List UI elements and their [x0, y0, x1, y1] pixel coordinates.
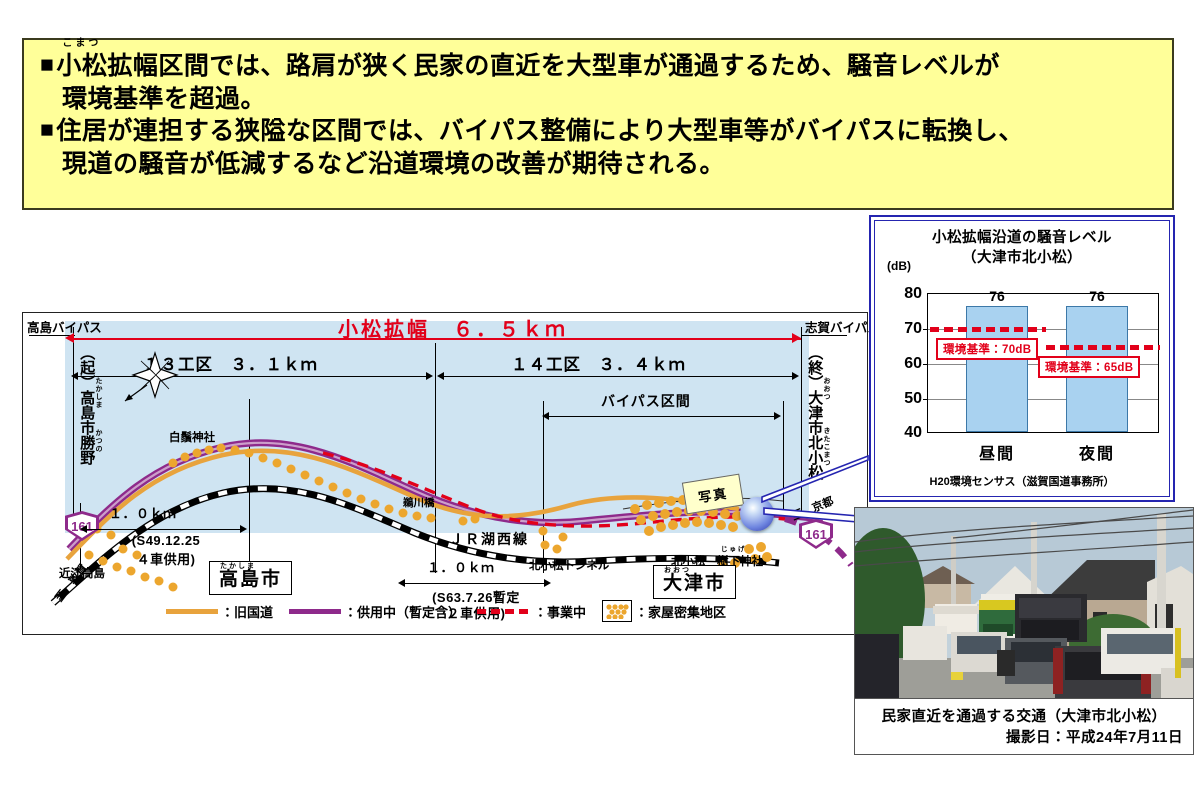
photo-caption: 民家直近を通過する交通（大津市北小松） 撮影日：平成24年7月11日 [855, 698, 1193, 754]
traffic-photo [855, 508, 1193, 698]
legend-item-in-service: ：供用中（暫定含） [289, 602, 461, 621]
photo-panel: 民家直近を通過する交通（大津市北小松） 撮影日：平成24年7月11日 [854, 507, 1194, 755]
threshold-line-nighttime [1046, 345, 1160, 350]
legend-label-dense-housing: ：家屋密集地区 [635, 602, 726, 621]
ytick-40: 40 [904, 424, 922, 442]
ytick-50: 50 [904, 390, 922, 408]
bullet-square-icon: ■ [40, 50, 54, 80]
dimension-right-measure [403, 583, 549, 584]
ruby-text-komatsu: こまつ [62, 37, 101, 50]
label-kitakomatsu-tunnel: 北小松トンネル [529, 557, 609, 573]
legend-swatch-hex-cluster-icon [602, 600, 632, 622]
legend-item-under-construction: ：事業中 [477, 602, 586, 621]
city-box-takashima: たかしま 高島市 [209, 561, 292, 595]
city-name-otsu: 大津市 [663, 573, 726, 594]
compass-rose-icon [125, 353, 177, 401]
dimension-left-note1: (S49.12.25 [91, 533, 241, 548]
ruby-juge: じゅげ [721, 543, 747, 553]
ytick-60: 60 [904, 355, 922, 373]
headline-bullet-2-line1: 住居が連担する狭隘な区間では、バイパス整備により大型車等がバイパスに転換し、 [56, 115, 1158, 148]
noise-level-chart-panel: 小松拡幅沿道の騒音レベル （大津市北小松） (dB) 80 70 60 50 4… [869, 215, 1175, 502]
ytick-70: 70 [904, 320, 922, 338]
chart-unit-label: (dB) [887, 259, 911, 273]
chart-title-main: 小松拡幅沿道の騒音レベル [875, 229, 1169, 249]
ruby-otsu-city: おおつ [664, 565, 691, 575]
legend-item-old-route: ：旧国道 [166, 602, 273, 621]
legend-item-dense-housing: ：家屋密集地区 [602, 600, 726, 622]
ruby-komatsu: こまつ 小松 [56, 50, 107, 83]
bar-value-nighttime: 76 [1067, 288, 1127, 304]
photo-caption-line2: 撮影日：平成24年7月11日 [865, 726, 1183, 747]
label-jr-kosei-line: ＪＲ湖西線 [449, 529, 529, 549]
headline-bullet-1-line2: 環境基準を超過。 [40, 83, 1158, 116]
legend-label-old-route: ：旧国道 [221, 602, 273, 621]
map-legend: ：旧国道 ：供用中（暫定含） ：事業中 ：家屋密集地区 [23, 600, 869, 622]
city-name-takashima: 高島市 [219, 569, 282, 590]
xtick-daytime: 昼間 [956, 440, 1038, 464]
dimension-right-arrow-end [544, 579, 551, 587]
headline-bullet-1: ■ こまつ 小松 拡幅区間では、路肩が狭く民家の直近を大型車が通過するため、騒音… [40, 50, 1158, 83]
dimension-right-length: １．０ｋｍ [427, 557, 495, 576]
bar-daytime: 76 [966, 306, 1028, 432]
xtick-nighttime: 夜間 [1056, 440, 1138, 464]
tickmark-60 [923, 364, 928, 365]
threshold-line-daytime [930, 327, 1046, 332]
city-box-otsu: おおつ 大津市 [653, 565, 736, 599]
traffic-photo-graphic [855, 508, 1193, 698]
photo-caption-line1: 民家直近を通過する交通（大津市北小松） [865, 705, 1183, 726]
chart-source-note: H20環境センサス（滋賀国道事務所） [875, 473, 1169, 489]
legend-swatch-orange-line [166, 609, 218, 614]
legend-label-under-construction: ：事業中 [534, 602, 586, 621]
headline-bullet-2: ■ 住居が連担する狭隘な区間では、バイパス整備により大型車等がバイパスに転換し、 [40, 115, 1158, 148]
gridline-40: 40 [928, 433, 1158, 434]
threshold-badge-daytime: 環境基準：70dB [936, 338, 1038, 360]
dimension-left-arrow-end [240, 525, 247, 533]
bullet-square-icon-2: ■ [40, 115, 54, 145]
legend-swatch-purple-line [289, 609, 341, 614]
headline-bullet-2-line2: 現道の騒音が低減するなど沿道環境の改善が期待される。 [40, 148, 1158, 181]
route-number-right: 161 [802, 522, 830, 546]
legend-swatch-red-dashed-line [477, 609, 531, 614]
chart-inner-frame: 小松拡幅沿道の騒音レベル （大津市北小松） (dB) 80 70 60 50 4… [874, 220, 1170, 497]
dimension-right-arrow-start [398, 579, 405, 587]
ruby-base-komatsu: 小松 [56, 52, 107, 80]
bar-value-daytime: 76 [967, 288, 1027, 304]
chart-title-sub: （大津市北小松） [875, 249, 1169, 269]
ytick-80: 80 [904, 285, 922, 303]
headline-box: ■ こまつ 小松 拡幅区間では、路肩が狭く民家の直近を大型車が通過するため、騒音… [22, 38, 1174, 210]
headline-bullet-1-line1: 拡幅区間では、路肩が狭く民家の直近を大型車が通過するため、騒音レベルが [107, 52, 1000, 80]
dimension-left-measure [85, 529, 245, 530]
chart-title: 小松拡幅沿道の騒音レベル （大津市北小松） [875, 229, 1169, 268]
label-ukawa-bridge: 鵜川橋 [403, 495, 435, 510]
ruby-takashima-city: たかしま [220, 561, 256, 571]
tickmark-70 [923, 329, 928, 330]
legend-label-in-service: ：供用中（暫定含） [344, 602, 461, 621]
photo-location-marker[interactable] [740, 497, 774, 531]
dimension-left-length: １．０ｋｍ [109, 503, 177, 522]
map-panel: 高島バイパス 志賀バイパス 小松拡幅 ６．５ｋｍ １３工区 ３．１ｋｍ １４工区… [22, 312, 868, 635]
chart-plot-area: 80 70 60 50 40 76 76 [927, 293, 1159, 433]
dimension-left-arrow-start [80, 525, 87, 533]
label-shirahige-shrine: 白鬚神社 [169, 429, 215, 445]
threshold-badge-nighttime: 環境基準：65dB [1038, 356, 1140, 378]
tickmark-50 [923, 399, 928, 400]
